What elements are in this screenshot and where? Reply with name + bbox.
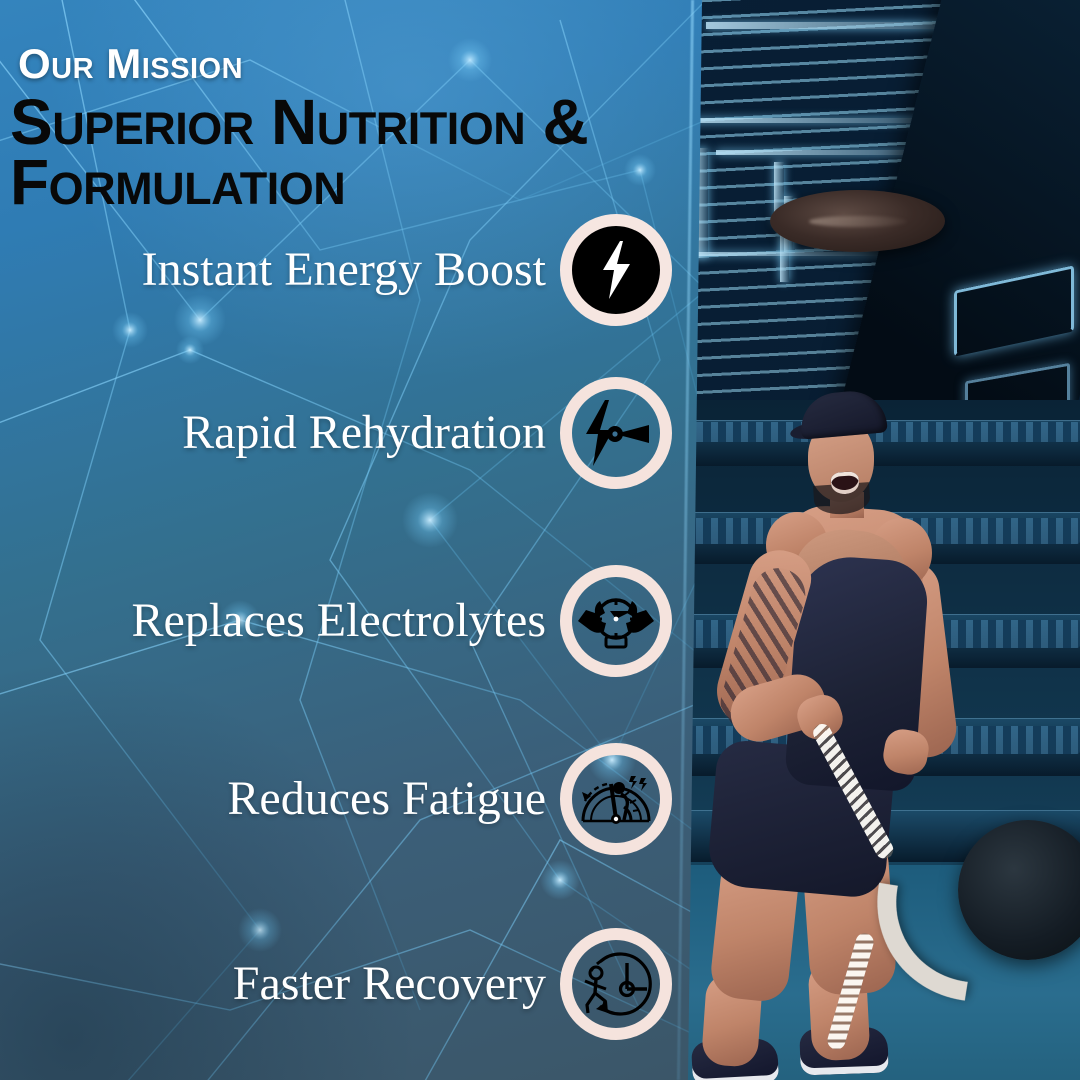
headline-line-2: Formulation bbox=[10, 146, 345, 218]
benefit-label: Rapid Rehydration bbox=[182, 409, 546, 457]
content-panel: Our Mission Superior Nutrition & Formula… bbox=[0, 0, 706, 1080]
running-person-clock-icon bbox=[577, 949, 655, 1019]
flexing-arms-clock-icon bbox=[576, 587, 656, 655]
benefit-label: Replaces Electrolytes bbox=[132, 597, 547, 645]
benefit-label: Instant Energy Boost bbox=[142, 246, 546, 294]
bolt-gauge-needle-icon bbox=[579, 396, 653, 470]
fatigue-gauge-person-icon bbox=[577, 767, 655, 831]
benefit-icon-badge[interactable] bbox=[560, 377, 672, 489]
benefit-icon-badge[interactable] bbox=[560, 928, 672, 1040]
benefit-label: Faster Recovery bbox=[233, 960, 546, 1008]
gym-photo bbox=[688, 0, 1080, 1080]
benefit-label: Reduces Fatigue bbox=[227, 775, 546, 823]
athlete-figure bbox=[688, 380, 1080, 1080]
benefit-row-rapid-rehydration[interactable]: Rapid Rehydration bbox=[0, 377, 672, 489]
benefit-row-instant-energy-boost[interactable]: Instant Energy Boost bbox=[0, 214, 672, 326]
hanging-weight-plate bbox=[770, 190, 945, 252]
page-title: Superior Nutrition & Formulation bbox=[10, 92, 710, 212]
benefit-row-reduces-fatigue[interactable]: Reduces Fatigue bbox=[0, 743, 672, 855]
lightning-bolt-icon bbox=[593, 239, 639, 301]
athlete-cap bbox=[798, 388, 888, 439]
benefit-icon-badge[interactable] bbox=[560, 565, 672, 677]
gym-ceiling bbox=[688, 0, 1080, 430]
poster-canvas: Our Mission Superior Nutrition & Formula… bbox=[0, 0, 1080, 1080]
benefit-icon-badge[interactable] bbox=[560, 743, 672, 855]
eyebrow-label: Our Mission bbox=[18, 40, 243, 88]
benefit-row-faster-recovery[interactable]: Faster Recovery bbox=[0, 928, 672, 1040]
benefit-icon-badge[interactable] bbox=[560, 214, 672, 326]
benefit-row-replaces-electrolytes[interactable]: Replaces Electrolytes bbox=[0, 565, 672, 677]
